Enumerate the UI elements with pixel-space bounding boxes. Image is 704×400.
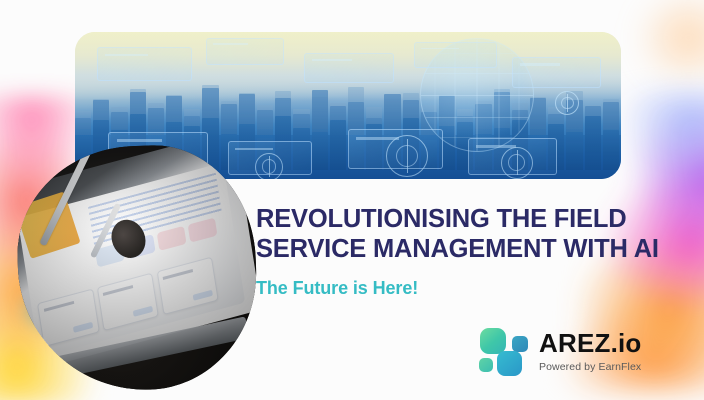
promotional-banner: REVOLUTIONISING THE FIELDSERVICE MANAGEM… xyxy=(0,0,704,400)
logo-tile-bottom-right xyxy=(497,351,522,376)
logo-tile-bottom-left xyxy=(479,358,493,372)
logo-tagline: Powered by EarnFlex xyxy=(539,361,642,373)
headline-line-2: SERVICE MANAGEMENT WITH AI xyxy=(256,234,636,264)
photo-vignette xyxy=(14,142,260,394)
subtitle: The Future is Here! xyxy=(256,278,636,299)
logo-tile-top-left xyxy=(480,328,506,354)
logo-tile-top-right xyxy=(512,336,528,352)
logo-text-block: AREZ.io Powered by EarnFlex xyxy=(539,330,642,372)
top-right-warm-glow xyxy=(614,0,704,84)
headline-line-1: REVOLUTIONISING THE FIELD xyxy=(256,205,626,233)
page-title: REVOLUTIONISING THE FIELDSERVICE MANAGEM… xyxy=(256,204,636,264)
tablet-stylus-photo xyxy=(14,142,260,394)
brand-logo: AREZ.io Powered by EarnFlex xyxy=(479,327,642,376)
copy-block: REVOLUTIONISING THE FIELDSERVICE MANAGEM… xyxy=(256,204,636,299)
arez-logo-mark-icon xyxy=(479,327,528,376)
logo-name: AREZ.io xyxy=(539,330,642,357)
